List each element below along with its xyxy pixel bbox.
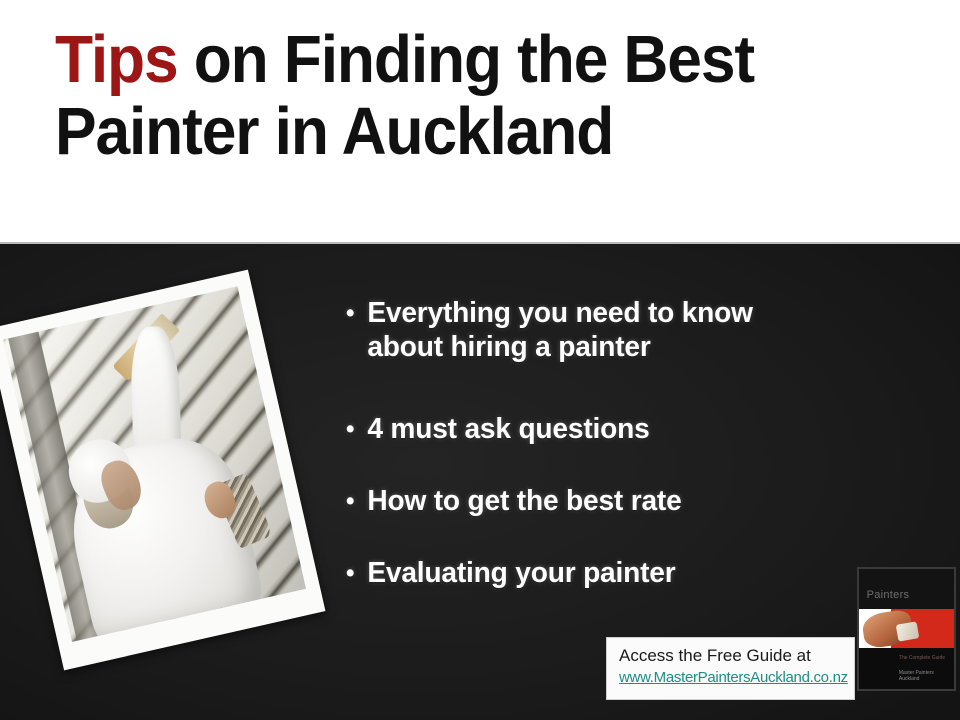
bullet-marker: •: [346, 296, 367, 330]
list-item: • How to get the best rate: [346, 484, 889, 518]
guide-cover-footer: Master Painters Auckland: [899, 670, 954, 682]
bullet-text: Evaluating your painter: [367, 556, 833, 590]
bullet-marker: •: [346, 484, 367, 518]
bullet-text: 4 must ask questions: [367, 412, 833, 446]
painter-photo: [3, 286, 306, 641]
title-accent: Tips: [55, 22, 178, 97]
guide-cover-title: Painters: [867, 589, 910, 601]
guide-cover-bottom: [859, 648, 954, 689]
bullet-text: How to get the best rate: [367, 484, 833, 518]
bullet-marker: •: [346, 412, 367, 446]
guide-cover-roller-icon: [896, 621, 919, 641]
bullet-list: • Everything you need to know about hiri…: [346, 296, 906, 628]
free-guide-callout: Access the Free Guide at www.MasterPaint…: [606, 637, 855, 700]
list-item: • Evaluating your painter: [346, 556, 889, 590]
slide-header: Tips on Finding the Best Painter in Auck…: [0, 0, 960, 244]
guide-url-link[interactable]: www.MasterPaintersAuckland.co.nz: [619, 668, 848, 687]
bullet-text: Everything you need to know about hiring…: [367, 296, 833, 364]
list-item: • 4 must ask questions: [346, 412, 889, 446]
callout-heading: Access the Free Guide at: [619, 645, 854, 666]
slide: Tips on Finding the Best Painter in Auck…: [0, 0, 960, 720]
guide-cover-thumbnail[interactable]: Painters The Complete Guide Master Paint…: [857, 567, 956, 691]
page-title: Tips on Finding the Best Painter in Auck…: [55, 24, 873, 168]
bullet-marker: •: [346, 556, 367, 590]
list-item: • Everything you need to know about hiri…: [346, 296, 889, 364]
guide-cover-subtitle: The Complete Guide: [899, 655, 945, 662]
